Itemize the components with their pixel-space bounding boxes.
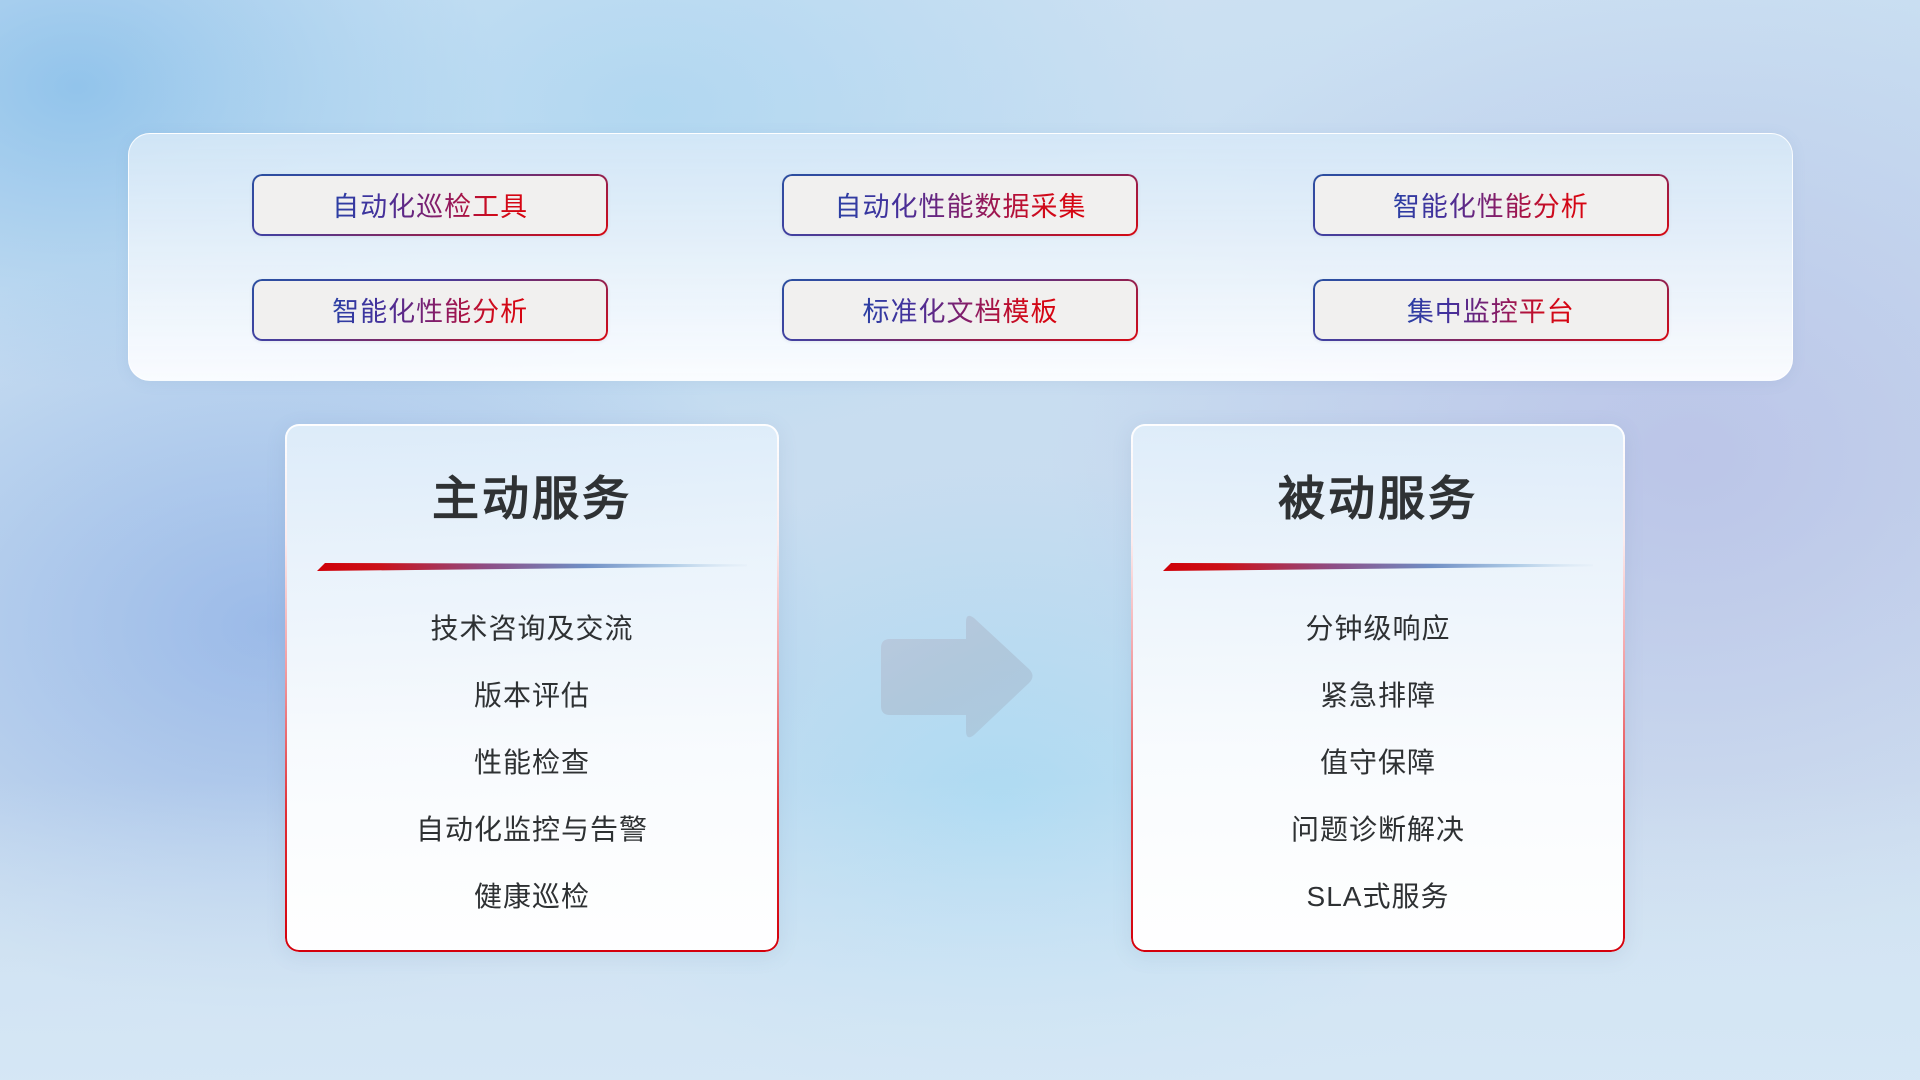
slide-canvas: 自动化巡检工具 自动化性能数据采集 智能化性能分析 智能化性能分析 标准化文档模…	[0, 0, 1920, 1080]
service-item-list: 技术咨询及交流 版本评估 性能检查 自动化监控与告警 健康巡检	[285, 607, 779, 915]
capability-chip-label: 智能化性能分析	[332, 290, 528, 329]
capability-panel: 自动化巡检工具 自动化性能数据采集 智能化性能分析 智能化性能分析 标准化文档模…	[128, 133, 1793, 381]
service-item: 问题诊断解决	[1291, 808, 1465, 848]
arrow-right-icon	[873, 612, 1035, 742]
capability-chip-label: 标准化文档模板	[862, 290, 1058, 329]
capability-chip-grid: 自动化巡检工具 自动化性能数据采集 智能化性能分析 智能化性能分析 标准化文档模…	[129, 134, 1792, 380]
capability-chip[interactable]: 自动化巡检工具	[252, 174, 608, 236]
card-title: 主动服务	[285, 460, 779, 529]
title-divider	[1163, 559, 1593, 573]
service-item-list: 分钟级响应 紧急排障 值守保障 问题诊断解决 SLA式服务	[1131, 607, 1625, 915]
capability-chip-label: 自动化性能数据采集	[834, 185, 1086, 224]
service-card-proactive: 主动服务 技术咨询及交流 版本评估 性能检查	[285, 424, 779, 952]
service-card-reactive: 被动服务 分钟级响应 紧急排障 值守保障	[1131, 424, 1625, 952]
service-item: SLA式服务	[1307, 875, 1450, 915]
capability-chip[interactable]: 标准化文档模板	[782, 279, 1138, 341]
service-item: 值守保障	[1320, 741, 1436, 781]
service-item: 分钟级响应	[1305, 607, 1450, 647]
capability-chip[interactable]: 智能化性能分析	[252, 279, 608, 341]
capability-chip-label: 集中监控平台	[1407, 290, 1575, 329]
service-item: 技术咨询及交流	[430, 607, 633, 647]
service-item: 自动化监控与告警	[416, 808, 648, 848]
card-title: 被动服务	[1131, 460, 1625, 529]
service-item: 紧急排障	[1320, 674, 1436, 714]
capability-chip[interactable]: 集中监控平台	[1313, 279, 1669, 341]
capability-chip[interactable]: 智能化性能分析	[1313, 174, 1669, 236]
service-item: 版本评估	[474, 674, 590, 714]
capability-chip-label: 智能化性能分析	[1393, 185, 1589, 224]
service-item: 健康巡检	[474, 875, 590, 915]
title-divider	[317, 559, 747, 573]
capability-chip-label: 自动化巡检工具	[332, 185, 528, 224]
capability-chip[interactable]: 自动化性能数据采集	[782, 174, 1138, 236]
service-item: 性能检查	[474, 741, 590, 781]
